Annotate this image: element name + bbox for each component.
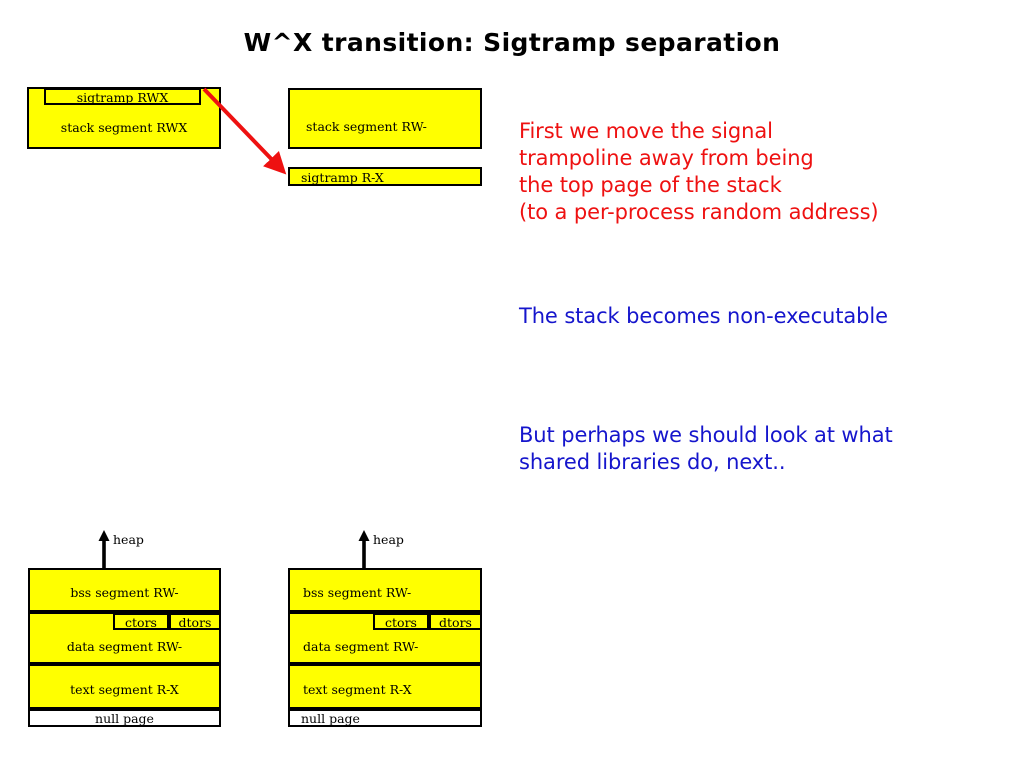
null-page-label-right: null page xyxy=(301,711,360,726)
heap-label-right: heap xyxy=(373,532,404,547)
sigtramp-rwx-label: sigtramp RWX xyxy=(44,90,201,105)
data-segment-label-left: data segment RW- xyxy=(28,639,221,654)
dtors-label-left: dtors xyxy=(169,615,221,630)
note-red-sigtramp-move: First we move the signal trampoline away… xyxy=(519,118,1019,226)
text-segment-label-right: text segment R-X xyxy=(303,682,412,697)
ctors-label-left: ctors xyxy=(113,615,169,630)
bss-segment-label-right: bss segment RW- xyxy=(303,585,411,600)
ctors-label-right: ctors xyxy=(373,615,429,630)
page-title: W^X transition: Sigtramp separation xyxy=(0,28,1024,57)
dtors-label-right: dtors xyxy=(429,615,482,630)
stack-segment-rwx-label: stack segment RWX xyxy=(27,120,221,135)
note-blue-stack-nonexec: The stack becomes non-executable xyxy=(519,303,1019,330)
sigtramp-rx-label: sigtramp R-X xyxy=(301,170,384,185)
stack-segment-rw-label: stack segment RW- xyxy=(306,119,427,134)
heap-label-left: heap xyxy=(113,532,144,547)
data-segment-label-right: data segment RW- xyxy=(303,639,418,654)
note-blue-shared-libraries: But perhaps we should look at what share… xyxy=(519,422,1019,476)
text-segment-label-left: text segment R-X xyxy=(28,682,221,697)
bss-segment-label-left: bss segment RW- xyxy=(28,585,221,600)
null-page-label-left: null page xyxy=(28,711,221,726)
